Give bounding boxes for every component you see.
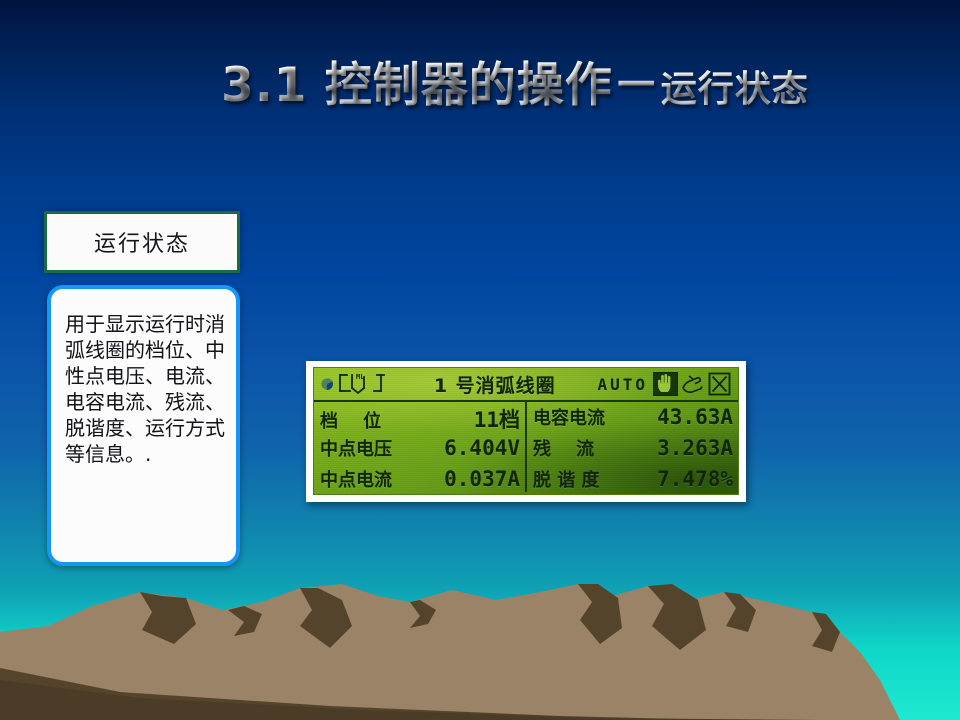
lcd-reading-value: 11档 [474, 404, 520, 434]
section-label-text: 运行状态 [94, 226, 190, 258]
page-title: 3.1 控制器的操作－运行状态 [150, 62, 880, 110]
status-dot-icon [320, 377, 334, 391]
lcd-reading-label: 中点电流 [320, 466, 392, 492]
slide-canvas: 3.1 控制器的操作－运行状态 运行状态 用于显示运行时消弧线圈的档位、中性点电… [0, 0, 960, 720]
coil-ml-symbol-icon: ML [336, 371, 392, 397]
lcd-readings-grid: 档 位 11档 中点电压 6.404V 中点电流 0.037A 电容电流 [314, 402, 738, 492]
lcd-reading-label: 电容电流 [533, 404, 605, 430]
lcd-reading-row: 残 流 3.263A [533, 435, 733, 466]
lcd-reading-label: 脱 谐 度 [533, 466, 600, 492]
lcd-reading-value: 0.037A [444, 467, 520, 491]
lcd-reading-row: 档 位 11档 [320, 404, 520, 435]
lcd-reading-row: 电容电流 43.63A [533, 404, 733, 435]
lcd-reading-value: 43.63A [657, 405, 733, 429]
description-callout-box: 用于显示运行时消弧线圈的档位、中性点电压、电流、电容电流、残流、脱谐度、运行方式… [47, 285, 240, 566]
section-label-box: 运行状态 [44, 211, 240, 273]
lcd-mode-auto: AUTO [597, 375, 648, 394]
mountain-landscape-decoration [0, 540, 960, 720]
hand-manual-icon[interactable] [653, 372, 678, 396]
description-text: 用于显示运行时消弧线圈的档位、中性点电压、电流、电容电流、残流、脱谐度、运行方式… [65, 311, 226, 467]
x-close-icon[interactable] [707, 372, 732, 396]
lcd-reading-label: 残 流 [533, 435, 594, 461]
lcd-reading-row: 中点电压 6.404V [320, 435, 520, 466]
lcd-reading-row: 中点电流 0.037A [320, 466, 520, 495]
page-title-main: 3.1 控制器的操作－ [221, 58, 661, 113]
lcd-reading-value: 7.478% [657, 467, 733, 491]
lcd-screen-title: 1 号消弧线圈 [392, 371, 597, 398]
svg-text:ML: ML [356, 373, 364, 381]
lcd-readings-right-column: 电容电流 43.63A 残 流 3.263A 脱 谐 度 7.478% [527, 402, 738, 492]
lcd-header-bar: ML 1 号消弧线圈 AUTO [314, 368, 738, 402]
lcd-reading-label: 中点电压 [320, 435, 392, 461]
lcd-screen: ML 1 号消弧线圈 AUTO [313, 367, 739, 495]
lcd-reading-value: 6.404V [444, 436, 520, 460]
page-title-sub: 运行状态 [661, 69, 809, 110]
lcd-reading-label: 档 位 [320, 407, 381, 433]
controller-lcd-photo: ML 1 号消弧线圈 AUTO [306, 361, 746, 502]
lcd-readings-left-column: 档 位 11档 中点电压 6.404V 中点电流 0.037A [314, 402, 527, 492]
lcd-reading-row: 脱 谐 度 7.478% [533, 466, 733, 495]
lcd-reading-value: 3.263A [657, 436, 733, 460]
hand-pointer-icon[interactable] [680, 372, 705, 396]
